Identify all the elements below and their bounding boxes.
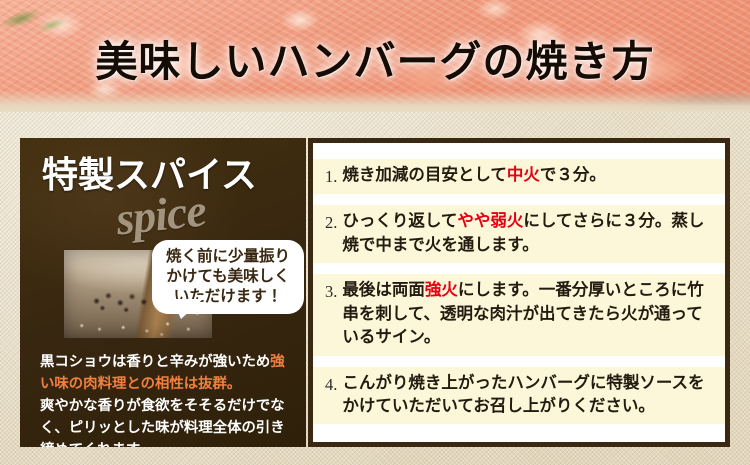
step-text: ひっくり返してやや弱火にしてさらに３分。蒸し焼で中まで火を通します。 (342, 210, 715, 257)
bubble-tail (172, 299, 203, 319)
step-text-segment: で３分。 (540, 166, 606, 184)
bubble-line-2: かけても美味しく (161, 267, 295, 287)
spice-description: 黒コショウは香りと辛みが強いため強い味の肉料理との相性は抜群。 爽やかな香りが食… (40, 352, 294, 447)
step-item: 3.最後は両面強火にします。一番分厚いところに竹串を刺して、透明な肉汁が出てきた… (313, 274, 725, 355)
step-number: 2. (325, 210, 342, 234)
step-text-segment: 焼き加減の目安として (342, 166, 507, 184)
step-text: 最後は両面強火にします。一番分厚いところに竹串を刺して、透明な肉汁が出てきたら火… (342, 279, 715, 349)
step-text-segment: ひっくり返して (342, 212, 457, 230)
step-item: 4.こんがり焼き上がったハンバーグに特製ソースをかけていただいてお召し上がりくだ… (313, 367, 725, 425)
step-number: 3. (325, 279, 342, 303)
steps-list: 1.焼き加減の目安として中火で３分。2.ひっくり返してやや弱火にしてさらに３分。… (313, 159, 725, 424)
step-number: 1. (325, 164, 342, 188)
step-item: 1.焼き加減の目安として中火で３分。 (313, 159, 725, 194)
step-text-segment: こんがり焼き上がったハンバーグに特製ソースをかけていただいてお召し上がりください… (342, 374, 704, 415)
step-highlight-term: 中火 (507, 166, 540, 184)
page-title: 美味しいハンバーグの焼き方 (0, 28, 750, 89)
cooking-steps-panel: 1.焼き加減の目安として中火で３分。2.ひっくり返してやや弱火にしてさらに３分。… (308, 138, 730, 447)
bubble-line-1: 焼く前に少量振り (161, 247, 295, 267)
step-text: こんがり焼き上がったハンバーグに特製ソースをかけていただいてお召し上がりください… (342, 372, 715, 419)
spice-description-part2: 爽やかな香りが食欲をそそるだけでなく、ピリッとした味が料理全体の引き締めてくれま… (40, 398, 285, 447)
recipe-infographic: 美味しいハンバーグの焼き方 特製スパイス spice 焼く前に少量振り かけても… (0, 0, 750, 465)
step-highlight-term: やや弱火 (457, 212, 523, 230)
step-item: 2.ひっくり返してやや弱火にしてさらに３分。蒸し焼で中まで火を通します。 (313, 205, 725, 263)
step-text: 焼き加減の目安として中火で３分。 (342, 164, 715, 187)
header-banner: 美味しいハンバーグの焼き方 (0, 0, 750, 112)
spice-script-subtitle: spice (113, 183, 208, 245)
header-fade-overlay (0, 90, 750, 112)
step-highlight-term: 強火 (425, 281, 458, 299)
spice-description-part1: 黒コショウは香りと辛みが強いため (40, 354, 270, 370)
spice-panel: 特製スパイス spice 焼く前に少量振り かけても美味しく いただけます！ 黒… (20, 138, 306, 447)
step-text-segment: 最後は両面 (342, 281, 425, 299)
step-number: 4. (325, 372, 342, 396)
